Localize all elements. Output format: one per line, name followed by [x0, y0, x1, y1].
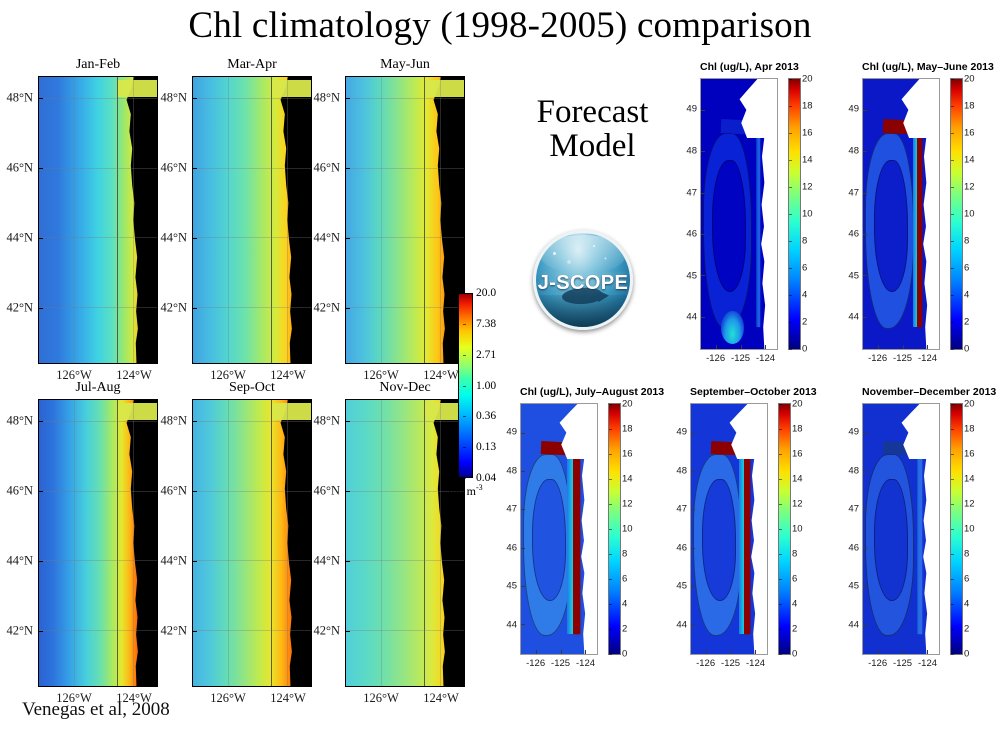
- gridline-lat: [346, 491, 464, 492]
- satellite-colorbar-tick: [463, 324, 467, 325]
- model-colorbar-label: 14: [792, 474, 803, 485]
- gridline-lon: [381, 77, 382, 363]
- model-xtick-label: -125: [721, 658, 740, 669]
- satellite-chl-map: [345, 76, 465, 364]
- model-ytick-mark: [863, 234, 867, 235]
- satellite-ytick-mark: [38, 491, 43, 492]
- model-colorbar-label: 20: [792, 399, 803, 410]
- model-panel-1: Chl (ug/L), Apr 2013494847464544-126-125…: [700, 78, 778, 350]
- jscope-logo: J-SCOPE: [533, 230, 633, 330]
- satellite-ytick-label: 48°N: [6, 413, 33, 428]
- gridline-lat: [39, 421, 157, 422]
- model-colorbar-label: 20: [622, 399, 633, 410]
- gridline-lon: [74, 77, 75, 363]
- model-ytick-mark: [701, 151, 705, 152]
- model-colorbar-tick: [951, 160, 954, 161]
- gridline-lon: [228, 77, 229, 363]
- satellite-ytick-label: 46°N: [6, 160, 33, 175]
- gridline-lat: [346, 237, 464, 238]
- coastline: [193, 77, 311, 363]
- model-panel-4: September–October 2013494847464544-126-1…: [690, 403, 768, 655]
- model-colorbar-tick: [779, 579, 782, 580]
- model-ytick-label: 48: [848, 465, 859, 476]
- model-colorbar-tick: [779, 504, 782, 505]
- model-colorbar-tick: [789, 268, 792, 269]
- model-colorbar-label: 18: [792, 424, 803, 435]
- gridline-lon: [74, 400, 75, 686]
- model-ytick-mark: [863, 548, 867, 549]
- satellite-ytick-mark: [192, 308, 197, 309]
- model-colorbar-label: 12: [792, 499, 803, 510]
- satellite-xtick-label: 124°W: [423, 691, 459, 706]
- model-colorbar-label: 20: [802, 74, 813, 85]
- model-colorbar-label: 8: [792, 549, 797, 560]
- gridline-lon: [133, 400, 134, 686]
- model-colorbar-tick: [951, 554, 954, 555]
- model-colorbar-tick: [951, 654, 954, 655]
- model-colorbar-label: 8: [964, 236, 969, 247]
- satellite-colorbar-label: 1.00: [476, 380, 496, 392]
- model-colorbar-tick: [951, 187, 954, 188]
- model-xtick-label: -126: [526, 658, 545, 669]
- satellite-ytick-mark: [192, 238, 197, 239]
- model-colorbar-tick: [951, 106, 954, 107]
- satellite-xtick-label: 124°W: [270, 691, 306, 706]
- model-colorbar-tick: [951, 268, 954, 269]
- model-colorbar-label: 14: [964, 474, 975, 485]
- gridline-lat: [39, 168, 157, 169]
- satellite-ytick-label: 46°N: [313, 160, 340, 175]
- satellite-ytick-mark: [38, 561, 43, 562]
- model-ytick-label: 45: [506, 581, 517, 592]
- model-ytick-label: 48: [686, 145, 697, 156]
- model-colorbar-label: 2: [792, 624, 797, 635]
- model-colorbar-label: 0: [802, 344, 807, 355]
- gridline-lon: [133, 77, 134, 363]
- model-xtick-label: -124: [918, 353, 937, 364]
- logo-wordmark: J-SCOPE: [536, 272, 630, 295]
- model-colorbar-label: 10: [964, 524, 975, 535]
- satellite-colorbar-units-prefix: mg m: [448, 484, 476, 498]
- satellite-colorbar-units: mg m-3: [448, 483, 482, 499]
- gridline-lat: [39, 560, 157, 561]
- gridline-lon: [440, 400, 441, 686]
- gridline-lat: [193, 630, 311, 631]
- model-xtick-mark: [536, 650, 537, 654]
- model-colorbar-tick: [609, 579, 612, 580]
- satellite-ytick-mark: [38, 238, 43, 239]
- model-colorbar-label: 16: [802, 128, 813, 139]
- satellite-ytick-label: 48°N: [160, 413, 187, 428]
- model-ytick-mark: [863, 151, 867, 152]
- model-colorbar-3: 20181614121086420: [608, 403, 621, 655]
- model-colorbar-label: 16: [622, 449, 633, 460]
- model-ytick-mark: [701, 193, 705, 194]
- model-panel-5: November–December 2013494847464544-126-1…: [862, 403, 940, 655]
- gridline-lon: [287, 400, 288, 686]
- satellite-colorbar-tick: [463, 386, 467, 387]
- satellite-ytick-mark: [38, 308, 43, 309]
- satellite-panel-1: Jan-Feb48°N46°N44°N42°N126°W124°W: [38, 76, 158, 364]
- model-colorbar-tick: [789, 241, 792, 242]
- satellite-colorbar-units-exponent: -3: [476, 483, 483, 492]
- model-colorbar-label: 8: [802, 236, 807, 247]
- isolated-bloom-patch: [721, 311, 744, 343]
- model-colorbar-label: 2: [622, 624, 627, 635]
- satellite-ytick-mark: [38, 168, 43, 169]
- satellite-ytick-mark: [38, 631, 43, 632]
- model-colorbar-tick: [951, 429, 954, 430]
- model-colorbar-label: 0: [964, 344, 969, 355]
- model-colorbar-label: 4: [622, 599, 627, 610]
- model-colorbar-tick: [951, 629, 954, 630]
- forecast-heading-line2: Model: [505, 129, 680, 163]
- model-ytick-mark: [521, 548, 525, 549]
- satellite-colorbar-tick: [463, 447, 467, 448]
- model-colorbar-tick: [779, 404, 782, 405]
- model-colorbar-label: 10: [622, 524, 633, 535]
- model-ytick-mark: [863, 110, 867, 111]
- model-ytick-mark: [863, 624, 867, 625]
- forecast-model-heading: Forecast Model: [505, 95, 680, 164]
- satellite-colorbar-tick: [463, 293, 467, 294]
- model-xtick-mark: [716, 345, 717, 349]
- gridline-lat: [39, 237, 157, 238]
- model-ytick-mark: [521, 433, 525, 434]
- model-ytick-label: 46: [848, 229, 859, 240]
- model-colorbar-label: 12: [622, 499, 633, 510]
- model-colorbar-label: 14: [622, 474, 633, 485]
- model-colorbar-tick: [951, 404, 954, 405]
- model-xtick-mark: [755, 650, 756, 654]
- contour-inner: [874, 160, 908, 292]
- model-xtick-mark: [903, 345, 904, 349]
- model-colorbar-tick: [951, 349, 954, 350]
- satellite-ytick-mark: [192, 168, 197, 169]
- model-xtick-mark: [706, 650, 707, 654]
- satellite-ytick-label: 44°N: [6, 553, 33, 568]
- model-chl-map: [862, 78, 940, 350]
- gridline-lat: [39, 491, 157, 492]
- gridline-lat: [346, 421, 464, 422]
- model-xtick-mark: [741, 345, 742, 349]
- model-xtick-label: -126: [696, 658, 715, 669]
- satellite-ytick-label: 48°N: [313, 90, 340, 105]
- contour-inner: [874, 479, 908, 601]
- model-colorbar-tick: [609, 479, 612, 480]
- satellite-colorbar: 20.07.382.711.000.360.130.04 mg m-3: [458, 293, 473, 478]
- model-ytick-label: 45: [686, 270, 697, 281]
- coastline: [346, 77, 464, 363]
- model-ytick-mark: [701, 317, 705, 318]
- model-colorbar-label: 6: [802, 263, 807, 274]
- model-panel-title: Chl (ug/L), July–August 2013: [520, 386, 598, 398]
- model-colorbar-2: 20181614121086420: [950, 78, 963, 350]
- model-colorbar-label: 0: [964, 649, 969, 660]
- gridline-lat: [346, 98, 464, 99]
- satellite-panel-title: Mar-Apr: [192, 57, 312, 73]
- model-ytick-mark: [863, 275, 867, 276]
- model-colorbar-1: 20181614121086420: [788, 78, 801, 350]
- model-colorbar-tick: [789, 187, 792, 188]
- model-ytick-label: 47: [848, 504, 859, 515]
- model-colorbar-label: 4: [802, 290, 807, 301]
- model-colorbar-label: 16: [964, 449, 975, 460]
- model-ytick-mark: [521, 509, 525, 510]
- model-colorbar-tick: [609, 604, 612, 605]
- satellite-ytick-label: 48°N: [313, 413, 340, 428]
- satellite-ytick-mark: [192, 98, 197, 99]
- model-xtick-mark: [765, 345, 766, 349]
- model-colorbar-tick: [779, 529, 782, 530]
- model-ytick-label: 49: [506, 426, 517, 437]
- model-colorbar-tick: [951, 79, 954, 80]
- model-colorbar-tick: [779, 554, 782, 555]
- model-colorbar-label: 16: [792, 449, 803, 460]
- satellite-chl-map: [192, 76, 312, 364]
- model-colorbar-label: 10: [802, 209, 813, 220]
- satellite-ytick-label: 48°N: [6, 90, 33, 105]
- model-colorbar-tick: [779, 629, 782, 630]
- coastline: [346, 400, 464, 686]
- model-xtick-mark: [731, 650, 732, 654]
- model-ytick-label: 44: [848, 619, 859, 630]
- model-xtick-label: -125: [731, 353, 750, 364]
- coastline: [193, 400, 311, 686]
- model-xtick-mark: [903, 650, 904, 654]
- model-colorbar-label: 18: [802, 101, 813, 112]
- model-ytick-label: 45: [848, 581, 859, 592]
- model-xtick-mark: [561, 650, 562, 654]
- model-xtick-label: -124: [576, 658, 595, 669]
- model-ytick-label: 45: [848, 270, 859, 281]
- model-colorbar-tick: [779, 654, 782, 655]
- model-colorbar-tick: [789, 349, 792, 350]
- model-panel-2: Chl (ug/L), May–June 2013494847464544-12…: [862, 78, 940, 350]
- model-colorbar-tick: [609, 629, 612, 630]
- model-colorbar-label: 10: [964, 209, 975, 220]
- model-ytick-mark: [691, 433, 695, 434]
- model-xtick-label: -125: [893, 353, 912, 364]
- satellite-xtick-label: 126°W: [210, 691, 246, 706]
- model-xtick-label: -124: [756, 353, 775, 364]
- model-colorbar-label: 18: [964, 424, 975, 435]
- gridline-lat: [193, 237, 311, 238]
- model-ytick-mark: [691, 471, 695, 472]
- model-colorbar-label: 18: [964, 101, 975, 112]
- model-colorbar-tick: [609, 529, 612, 530]
- satellite-ytick-label: 44°N: [160, 553, 187, 568]
- gridline-lon: [287, 77, 288, 363]
- model-colorbar-tick: [951, 454, 954, 455]
- model-colorbar-label: 14: [802, 155, 813, 166]
- model-ytick-mark: [863, 471, 867, 472]
- model-xtick-label: -126: [706, 353, 725, 364]
- satellite-panel-title: May-Jun: [345, 57, 465, 73]
- model-colorbar-label: 6: [964, 263, 969, 274]
- satellite-ytick-label: 42°N: [313, 300, 340, 315]
- model-colorbar-label: 8: [964, 549, 969, 560]
- model-colorbar-label: 20: [964, 74, 975, 85]
- model-colorbar-tick: [951, 133, 954, 134]
- model-ytick-label: 49: [686, 104, 697, 115]
- model-ytick-label: 46: [676, 542, 687, 553]
- satellite-ytick-mark: [345, 168, 350, 169]
- satellite-ytick-label: 42°N: [160, 300, 187, 315]
- satellite-chl-map: [345, 399, 465, 687]
- model-ytick-label: 47: [676, 504, 687, 515]
- model-colorbar-label: 2: [964, 317, 969, 328]
- model-xtick-label: -126: [868, 658, 887, 669]
- gridline-lat: [193, 560, 311, 561]
- model-colorbar-label: 10: [792, 524, 803, 535]
- model-colorbar-tick: [951, 214, 954, 215]
- satellite-colorbar-label: 7.38: [476, 318, 496, 330]
- satellite-ytick-mark: [345, 491, 350, 492]
- model-ytick-mark: [701, 275, 705, 276]
- gridline-lon: [440, 77, 441, 363]
- satellite-ytick-label: 46°N: [160, 160, 187, 175]
- satellite-chl-map: [192, 399, 312, 687]
- model-xtick-label: -124: [918, 658, 937, 669]
- model-xtick-label: -124: [746, 658, 765, 669]
- model-chl-map: [690, 403, 768, 655]
- model-colorbar-tick: [951, 479, 954, 480]
- satellite-panel-title: Jul-Aug: [38, 380, 158, 396]
- model-ytick-label: 49: [848, 104, 859, 115]
- model-colorbar-tick: [789, 133, 792, 134]
- satellite-ytick-mark: [345, 421, 350, 422]
- model-ytick-label: 47: [848, 187, 859, 198]
- model-ytick-label: 47: [686, 187, 697, 198]
- model-colorbar-5: 20181614121086420: [950, 403, 963, 655]
- model-panel-title: Chl (ug/L), May–June 2013: [862, 61, 940, 73]
- model-colorbar-tick: [951, 604, 954, 605]
- model-colorbar-tick: [609, 404, 612, 405]
- gridline-lat: [39, 98, 157, 99]
- model-ytick-mark: [691, 548, 695, 549]
- satellite-panel-title: Jan-Feb: [38, 57, 158, 73]
- satellite-ytick-label: 42°N: [313, 623, 340, 638]
- model-colorbar-label: 4: [792, 599, 797, 610]
- model-colorbar-label: 16: [964, 128, 975, 139]
- gridline-lat: [193, 168, 311, 169]
- model-ytick-label: 44: [686, 312, 697, 323]
- model-colorbar-tick: [951, 504, 954, 505]
- model-xtick-mark: [878, 650, 879, 654]
- model-colorbar-tick: [779, 454, 782, 455]
- model-colorbar-label: 12: [802, 182, 813, 193]
- model-colorbar-label: 6: [622, 574, 627, 585]
- model-chl-map: [862, 403, 940, 655]
- page-title: Chl climatology (1998-2005) comparison: [0, 4, 1000, 47]
- model-colorbar-label: 2: [964, 624, 969, 635]
- model-ytick-label: 44: [848, 312, 859, 323]
- model-colorbar-tick: [789, 295, 792, 296]
- satellite-colorbar-label: 0.13: [476, 441, 496, 453]
- model-colorbar-tick: [779, 429, 782, 430]
- satellite-ytick-mark: [345, 631, 350, 632]
- model-colorbar-tick: [951, 529, 954, 530]
- model-colorbar-tick: [789, 322, 792, 323]
- contour-inner: [532, 479, 566, 601]
- model-colorbar-label: 6: [964, 574, 969, 585]
- model-xtick-mark: [878, 345, 879, 349]
- model-ytick-mark: [521, 471, 525, 472]
- model-colorbar-label: 4: [964, 290, 969, 301]
- model-colorbar-label: 8: [622, 549, 627, 560]
- satellite-panel-title: Nov-Dec: [345, 380, 465, 396]
- satellite-ytick-mark: [192, 491, 197, 492]
- model-ytick-mark: [521, 586, 525, 587]
- satellite-ytick-mark: [192, 561, 197, 562]
- gridline-lat: [193, 307, 311, 308]
- model-chl-map: [700, 78, 778, 350]
- model-colorbar-tick: [789, 79, 792, 80]
- model-ytick-label: 49: [676, 426, 687, 437]
- model-colorbar-tick: [951, 322, 954, 323]
- model-colorbar-label: 4: [964, 599, 969, 610]
- model-colorbar-tick: [779, 604, 782, 605]
- satellite-ytick-mark: [38, 98, 43, 99]
- satellite-ytick-mark: [345, 308, 350, 309]
- satellite-ytick-label: 42°N: [6, 623, 33, 638]
- gridline-lat: [193, 98, 311, 99]
- gridline-lat: [346, 307, 464, 308]
- satellite-ytick-label: 44°N: [313, 553, 340, 568]
- coastline: [39, 400, 157, 686]
- model-ytick-label: 47: [506, 504, 517, 515]
- model-colorbar-label: 18: [622, 424, 633, 435]
- model-ytick-label: 44: [676, 619, 687, 630]
- satellite-ytick-mark: [345, 238, 350, 239]
- model-colorbar-label: 12: [964, 182, 975, 193]
- model-ytick-label: 48: [506, 465, 517, 476]
- satellite-ytick-label: 44°N: [160, 230, 187, 245]
- satellite-ytick-mark: [345, 98, 350, 99]
- satellite-panel-5: Sep-Oct48°N46°N44°N42°N126°W124°W: [192, 399, 312, 687]
- model-ytick-label: 45: [676, 581, 687, 592]
- coastline: [39, 77, 157, 363]
- model-ytick-mark: [863, 509, 867, 510]
- gridline-lat: [346, 168, 464, 169]
- contour-inner: [712, 160, 746, 292]
- model-colorbar-label: 20: [964, 399, 975, 410]
- model-colorbar-tick: [779, 479, 782, 480]
- satellite-ytick-mark: [192, 421, 197, 422]
- model-panel-3: Chl (ug/L), July–August 2013494847464544…: [520, 403, 598, 655]
- model-xtick-label: -125: [551, 658, 570, 669]
- satellite-ytick-label: 44°N: [6, 230, 33, 245]
- satellite-xtick-label: 126°W: [363, 691, 399, 706]
- model-ytick-mark: [691, 509, 695, 510]
- model-colorbar-label: 6: [792, 574, 797, 585]
- gridline-lon: [228, 400, 229, 686]
- model-ytick-mark: [863, 586, 867, 587]
- satellite-panel-2: Mar-Apr48°N46°N44°N42°N126°W124°W: [192, 76, 312, 364]
- model-ytick-mark: [701, 234, 705, 235]
- model-ytick-mark: [691, 624, 695, 625]
- model-colorbar-4: 20181614121086420: [778, 403, 791, 655]
- model-ytick-mark: [863, 193, 867, 194]
- satellite-colorbar-tick: [463, 416, 467, 417]
- contour-inner: [702, 479, 736, 601]
- satellite-colorbar-tick: [463, 478, 467, 479]
- model-ytick-mark: [863, 317, 867, 318]
- forecast-heading-line1: Forecast: [505, 95, 680, 129]
- model-ytick-mark: [691, 586, 695, 587]
- model-colorbar-label: 14: [964, 155, 975, 166]
